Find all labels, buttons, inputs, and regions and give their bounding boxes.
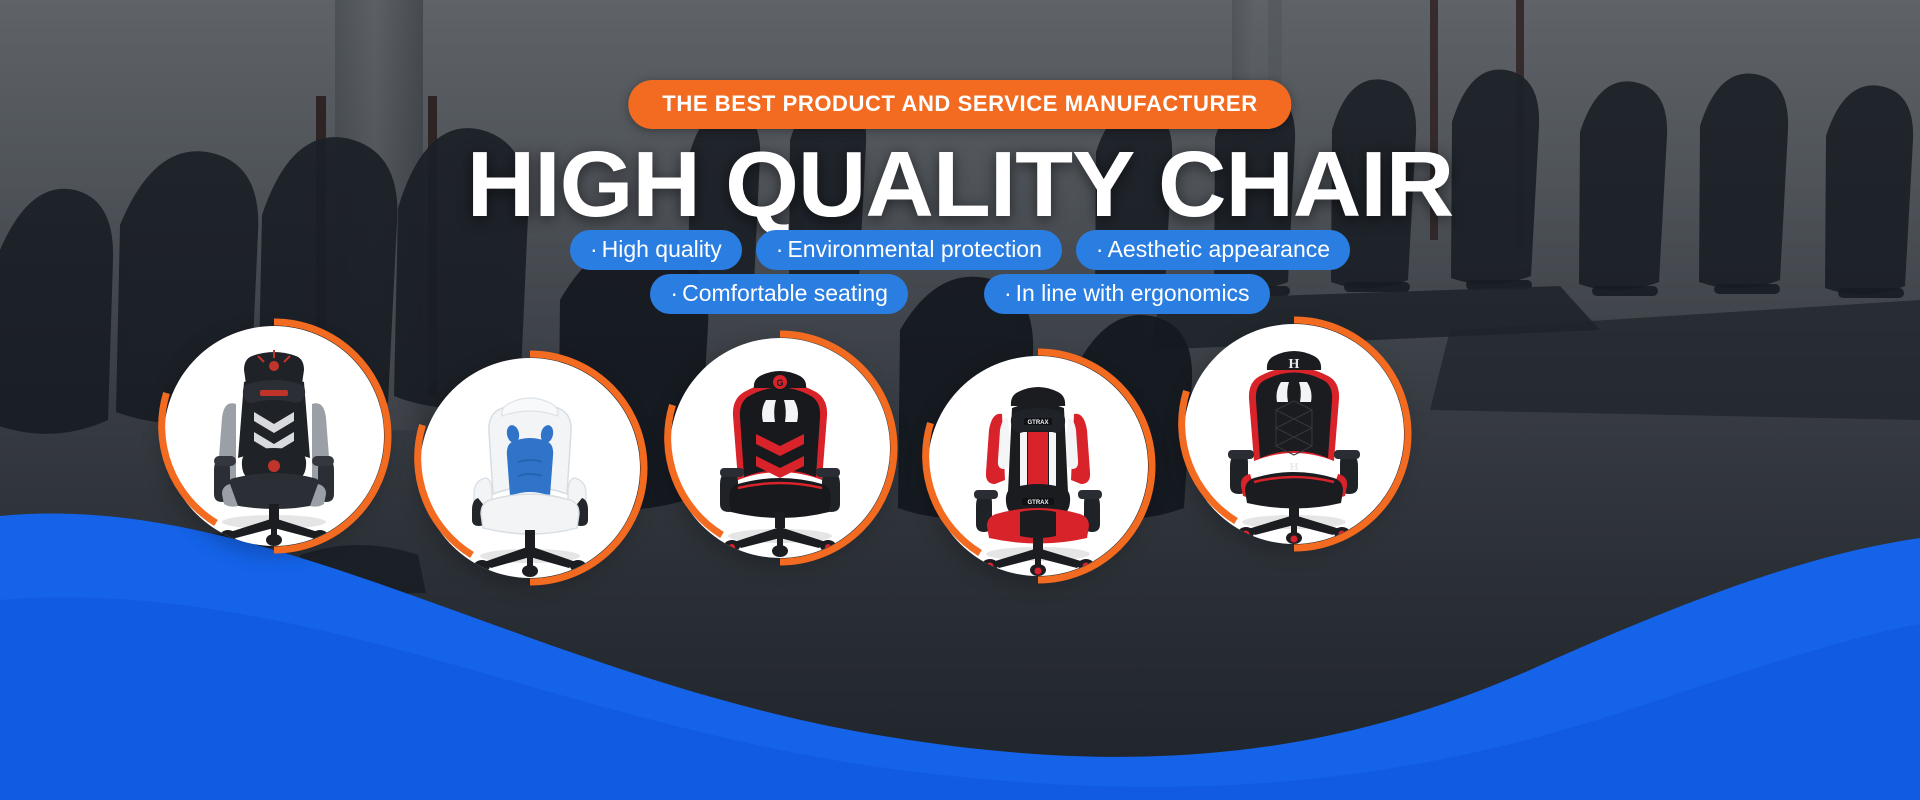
- svg-text:H: H: [1290, 461, 1299, 473]
- product-circle-2[interactable]: [412, 350, 648, 586]
- product-image-1: [164, 326, 384, 546]
- product-circle-5[interactable]: H H: [1176, 316, 1412, 552]
- svg-text:GTRAX: GTRAX: [1028, 420, 1049, 426]
- product-circle-3[interactable]: G: [662, 330, 898, 566]
- product-image-4: GTRAX GTRAX: [928, 356, 1148, 576]
- hero-banner: THE BEST PRODUCT AND SERVICE MANUFACTURE…: [0, 0, 1920, 800]
- product-image-3: G: [670, 338, 890, 558]
- product-image-5: H H: [1184, 324, 1404, 544]
- svg-text:H: H: [1289, 357, 1300, 372]
- product-circle-gallery: G: [0, 0, 1920, 800]
- product-circle-1[interactable]: [156, 318, 392, 554]
- product-image-2: [420, 358, 640, 578]
- svg-text:G: G: [776, 378, 783, 388]
- svg-text:GTRAX: GTRAX: [1028, 500, 1049, 506]
- product-circle-4[interactable]: GTRAX GTRAX: [920, 348, 1156, 584]
